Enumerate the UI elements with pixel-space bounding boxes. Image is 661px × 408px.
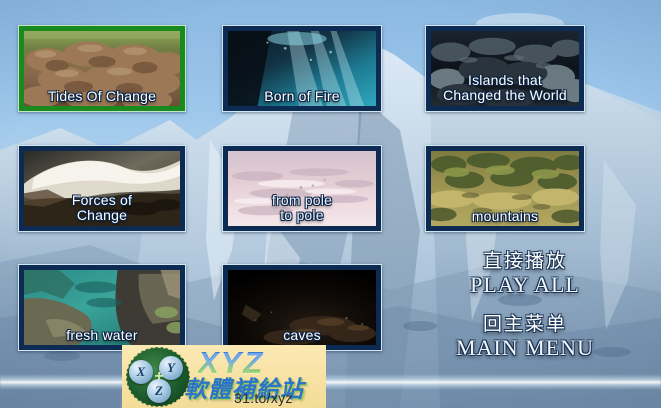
thumbnail-underwater-light-rays: Born of Fire: [228, 31, 376, 106]
thumbnail-river-cliff: fresh water: [24, 270, 180, 345]
chapter-tile-mountains[interactable]: mountains: [425, 145, 585, 232]
tile-label-line-2: Change: [24, 208, 180, 223]
xyz-logo-icon: X Y Z +: [126, 347, 190, 407]
main-menu-label-en: MAIN MENU: [425, 335, 625, 360]
chapter-tile-caves[interactable]: caves: [222, 264, 382, 351]
tile-label-line-2: to pole: [228, 208, 376, 223]
thumbnail-rocky-coastline: Tides Of Change: [24, 31, 180, 106]
watermark-url: 31.to/xyz: [234, 390, 293, 406]
tile-label: mountains: [431, 209, 579, 224]
chapter-tile-tides-of-change[interactable]: Tides Of Change: [18, 25, 186, 112]
play-all-label-cn: 直接播放: [425, 250, 625, 272]
light-streak: [0, 374, 661, 390]
tile-label-line-1: Islands that: [431, 73, 579, 88]
logo-plus-icon: +: [152, 370, 166, 384]
thumbnail-pink-icefield: from pole to pole: [228, 151, 376, 226]
menu-item-main-menu[interactable]: 回主菜单 MAIN MENU: [425, 313, 625, 360]
menu-item-play-all[interactable]: 直接播放 PLAY ALL: [425, 250, 625, 297]
tile-label: Born of Fire: [228, 89, 376, 104]
chapter-tile-fresh-water[interactable]: fresh water: [18, 264, 186, 351]
tile-label: from pole to pole: [228, 193, 376, 223]
tile-label: Tides Of Change: [24, 89, 180, 104]
xyz-watermark: X Y Z + XYZ 軟體補給站 31.to/xyz: [122, 345, 326, 408]
play-all-label-en: PLAY ALL: [425, 272, 625, 297]
thumbnail-avalanche: Forces of Change: [24, 151, 180, 226]
thumbnail-forested-hillside: mountains: [431, 151, 579, 226]
main-menu-label-cn: 回主菜单: [425, 313, 625, 335]
tile-label-line-2: Changed the World: [431, 88, 579, 103]
thumbnail-marine-iguanas: Islands that Changed the World: [431, 31, 579, 106]
chapter-tile-born-of-fire[interactable]: Born of Fire: [222, 25, 382, 112]
logo-ball-x: X: [129, 360, 153, 384]
chapter-tile-islands-that-changed-the-world[interactable]: Islands that Changed the World: [425, 25, 585, 112]
thumbnail-dark-cave: caves: [228, 270, 376, 345]
chapter-tile-from-pole-to-pole[interactable]: from pole to pole: [222, 145, 382, 232]
tile-label: Islands that Changed the World: [431, 73, 579, 103]
tile-label: caves: [228, 328, 376, 343]
tile-label: Forces of Change: [24, 193, 180, 223]
dvd-menu-screen: Tides Of Change: [0, 0, 661, 408]
chapter-tile-forces-of-change[interactable]: Forces of Change: [18, 145, 186, 232]
tile-label: fresh water: [24, 328, 180, 343]
tile-label-line-1: from pole: [228, 193, 376, 208]
tile-label-line-1: Forces of: [24, 193, 180, 208]
